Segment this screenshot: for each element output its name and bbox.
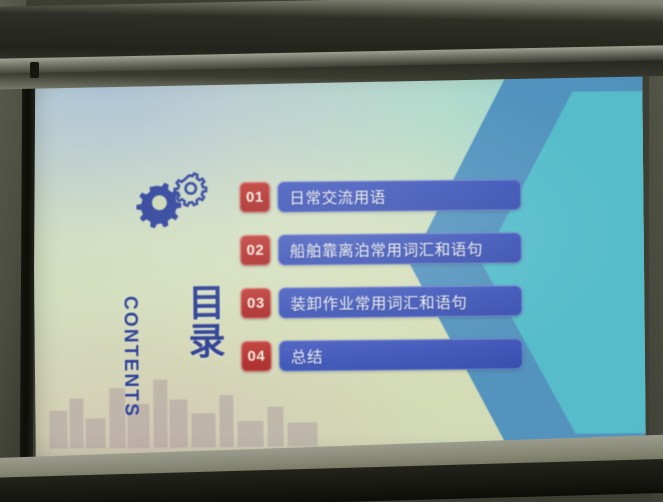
item-number-badge: 01 — [239, 182, 270, 213]
screen-roller-end-cap — [30, 62, 39, 78]
item-number-badge: 04 — [241, 341, 272, 372]
photo-scene: 目录 CONTENTS 01 日常交流用语 02 船舶靠离泊常用词汇和语句 03… — [0, 0, 663, 502]
item-label-bar[interactable]: 日常交流用语 — [277, 179, 521, 212]
projection-slide: 目录 CONTENTS 01 日常交流用语 02 船舶靠离泊常用词汇和语句 03… — [32, 69, 646, 461]
list-item[interactable]: 04 总结 — [241, 337, 523, 373]
item-label-bar[interactable]: 总结 — [279, 338, 523, 371]
list-item[interactable]: 02 船舶靠离泊常用词汇和语句 — [240, 231, 522, 267]
page-title-cn: 目录 — [184, 283, 221, 359]
item-number-badge: 02 — [240, 235, 271, 266]
slide-title-block: 目录 CONTENTS — [146, 223, 248, 444]
gear-outline-icon — [175, 173, 207, 205]
screen-frame-left-rail — [20, 54, 36, 502]
item-label-bar[interactable]: 装卸作业常用词汇和语句 — [278, 285, 522, 318]
page-title-en: CONTENTS — [118, 296, 141, 418]
list-item[interactable]: 03 装卸作业常用词汇和语句 — [240, 284, 522, 320]
list-item[interactable]: 01 日常交流用语 — [239, 178, 521, 214]
screen-roller-bar — [0, 0, 663, 90]
contents-list: 01 日常交流用语 02 船舶靠离泊常用词汇和语句 03 装卸作业常用词汇和语句… — [239, 178, 523, 393]
item-label-bar[interactable]: 船舶靠离泊常用词汇和语句 — [278, 232, 522, 265]
item-number-badge: 03 — [240, 288, 271, 319]
